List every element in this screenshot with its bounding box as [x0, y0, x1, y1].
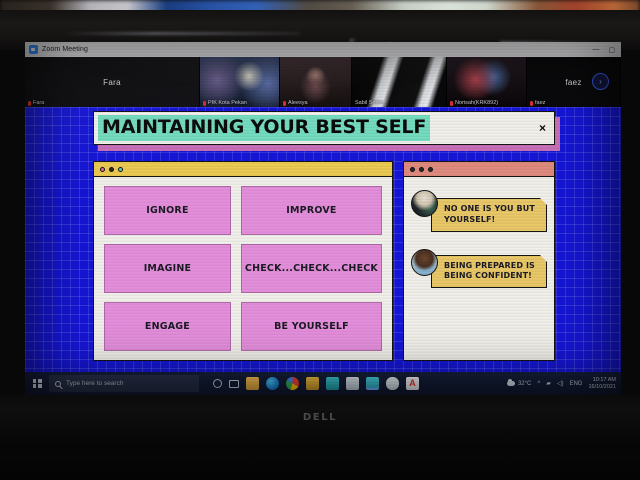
- options-window-body: IGNORE IMPROVE IMAGINE CHECK...CHECK...C…: [94, 177, 392, 360]
- slide-windows-row: IGNORE IMPROVE IMAGINE CHECK...CHECK...C…: [93, 161, 555, 361]
- word-document-icon[interactable]: [346, 377, 359, 390]
- participant-name: Sabil Sofee: [355, 100, 383, 106]
- option-button-improve[interactable]: IMPROVE: [241, 186, 382, 235]
- participant-tile[interactable]: Norisah(KRK892): [447, 57, 527, 107]
- options-grid: IGNORE IMPROVE IMAGINE CHECK...CHECK...C…: [94, 177, 392, 360]
- window-dot-icon[interactable]: [118, 167, 123, 172]
- chevron-right-icon: ›: [599, 78, 602, 86]
- task-view-icon[interactable]: [229, 380, 239, 388]
- zoom-icon[interactable]: [366, 377, 379, 390]
- close-icon[interactable]: ×: [539, 122, 546, 134]
- cloud-icon: [507, 381, 515, 386]
- option-button-be-yourself[interactable]: BE YOURSELF: [241, 302, 382, 351]
- windows-start-icon: [33, 379, 42, 388]
- clock-date: 16/10/2021: [588, 384, 616, 391]
- page-title: MAINTAINING YOUR BEST SELF: [98, 115, 430, 141]
- maximize-button[interactable]: ▢: [608, 46, 615, 54]
- participant-tile[interactable]: Aleesya: [280, 57, 352, 107]
- taskbar-icons: [213, 377, 419, 390]
- clock[interactable]: 10:17 AM 16/10/2021: [588, 377, 616, 391]
- option-button-check[interactable]: CHECK...CHECK...CHECK: [241, 244, 382, 293]
- option-button-ignore[interactable]: IGNORE: [104, 186, 231, 235]
- mic-muted-icon: [203, 101, 206, 106]
- zoom-participant-filmstrip: Fara Fara PIK Kota Pekan Aleesya: [25, 57, 621, 107]
- window-dot-icon[interactable]: [410, 167, 415, 172]
- quote-item: BEING PREPARED IS BEING CONFIDENT!: [411, 245, 547, 289]
- participant-name-badge: Aleesya: [283, 100, 308, 106]
- window-controls: — ▢: [592, 46, 621, 54]
- adobe-acrobat-icon[interactable]: [406, 377, 419, 390]
- zoom-window-title: Zoom Meeting: [42, 46, 88, 53]
- options-window: IGNORE IMPROVE IMAGINE CHECK...CHECK...C…: [93, 161, 393, 361]
- dell-brand-logo: DELL: [303, 412, 337, 423]
- participant-name-badge: PIK Kota Pekan: [203, 100, 247, 106]
- microsoft-teams-icon[interactable]: [326, 377, 339, 390]
- slide-title-bar: MAINTAINING YOUR BEST SELF ×: [93, 111, 555, 153]
- participant-center-name: Fara: [25, 57, 199, 107]
- clock-time: 10:17 AM: [588, 377, 616, 384]
- options-window-titlebar: [94, 162, 392, 177]
- option-button-engage[interactable]: ENGAGE: [104, 302, 231, 351]
- microsoft-edge-icon[interactable]: [266, 377, 279, 390]
- laptop-base: [0, 395, 640, 480]
- zoom-logo-icon: [29, 45, 38, 54]
- slide-content: MAINTAINING YOUR BEST SELF ×: [93, 111, 555, 369]
- quote-bubble-text: NO ONE IS YOU BUT YOURSELF!: [431, 198, 547, 232]
- zoom-window-titlebar: Zoom Meeting — ▢: [25, 42, 621, 57]
- photo-of-laptop-screen: Zoom Meeting — ▢ Fara Fara PIK Kota Peka…: [0, 0, 640, 480]
- windows-taskbar: Type here to search 32°C: [25, 372, 621, 395]
- cortana-icon[interactable]: [213, 379, 222, 388]
- participant-name-badge: Sabil Sofee: [355, 100, 383, 106]
- microsoft-store-icon[interactable]: [306, 377, 319, 390]
- show-hidden-icons-button[interactable]: ^: [537, 381, 540, 387]
- slide-title-panel: MAINTAINING YOUR BEST SELF ×: [93, 111, 555, 145]
- search-placeholder: Type here to search: [66, 380, 123, 387]
- participant-name: Norisah(KRK892): [455, 100, 498, 106]
- participant-name-badge: faez: [530, 100, 545, 106]
- quotes-window-titlebar: [404, 162, 554, 177]
- mic-muted-icon: [450, 101, 453, 106]
- participant-name: faez: [535, 100, 545, 106]
- onedrive-cloud-icon[interactable]: [386, 377, 399, 390]
- search-icon: [55, 381, 61, 387]
- option-button-imagine[interactable]: IMAGINE: [104, 244, 231, 293]
- next-participants-page-button[interactable]: ›: [592, 73, 609, 90]
- quotes-list: NO ONE IS YOU BUT YOURSELF! BEING PREPAR…: [404, 177, 554, 360]
- window-dot-icon[interactable]: [419, 167, 424, 172]
- search-input[interactable]: Type here to search: [49, 375, 199, 392]
- wifi-icon[interactable]: ▰: [546, 380, 551, 387]
- avatar: [411, 249, 438, 276]
- window-dot-icon[interactable]: [109, 167, 114, 172]
- minimize-button[interactable]: —: [592, 46, 599, 54]
- google-chrome-icon[interactable]: [286, 377, 299, 390]
- mic-muted-icon: [530, 101, 533, 106]
- bezel-reflection-left: [60, 32, 300, 35]
- mic-muted-icon: [283, 101, 286, 106]
- participant-name-badge: Norisah(KRK892): [450, 100, 498, 106]
- window-dot-icon[interactable]: [100, 167, 105, 172]
- temperature-label: 32°C: [518, 381, 531, 387]
- quote-item: NO ONE IS YOU BUT YOURSELF!: [411, 186, 547, 232]
- participant-name: Fara: [33, 100, 44, 106]
- quotes-window-body: NO ONE IS YOU BUT YOURSELF! BEING PREPAR…: [404, 177, 554, 360]
- window-dot-icon[interactable]: [428, 167, 433, 172]
- participant-tile[interactable]: Sabil Sofee: [352, 57, 447, 107]
- shared-screen-slide: MAINTAINING YOUR BEST SELF ×: [25, 107, 621, 372]
- laptop-screen: Zoom Meeting — ▢ Fara Fara PIK Kota Peka…: [25, 42, 621, 395]
- file-explorer-icon[interactable]: [246, 377, 259, 390]
- speaker-icon[interactable]: ◁): [557, 380, 564, 387]
- language-indicator[interactable]: ENG: [569, 381, 582, 387]
- weather-widget[interactable]: 32°C: [507, 381, 531, 387]
- participant-tile[interactable]: Fara Fara: [25, 57, 200, 107]
- participant-name: PIK Kota Pekan: [208, 100, 247, 106]
- participant-name: Aleesya: [288, 100, 308, 106]
- windows-start-button[interactable]: [25, 372, 49, 395]
- participant-name-badge: Fara: [28, 100, 44, 106]
- quotes-window: NO ONE IS YOU BUT YOURSELF! BEING PREPAR…: [403, 161, 555, 361]
- quote-bubble-text: BEING PREPARED IS BEING CONFIDENT!: [431, 255, 547, 289]
- mic-muted-icon: [28, 101, 31, 106]
- participant-tile[interactable]: PIK Kota Pekan: [200, 57, 280, 107]
- avatar: [411, 190, 438, 217]
- system-tray: 32°C ^ ▰ ◁) ENG 10:17 AM 16/10/2021: [507, 377, 621, 391]
